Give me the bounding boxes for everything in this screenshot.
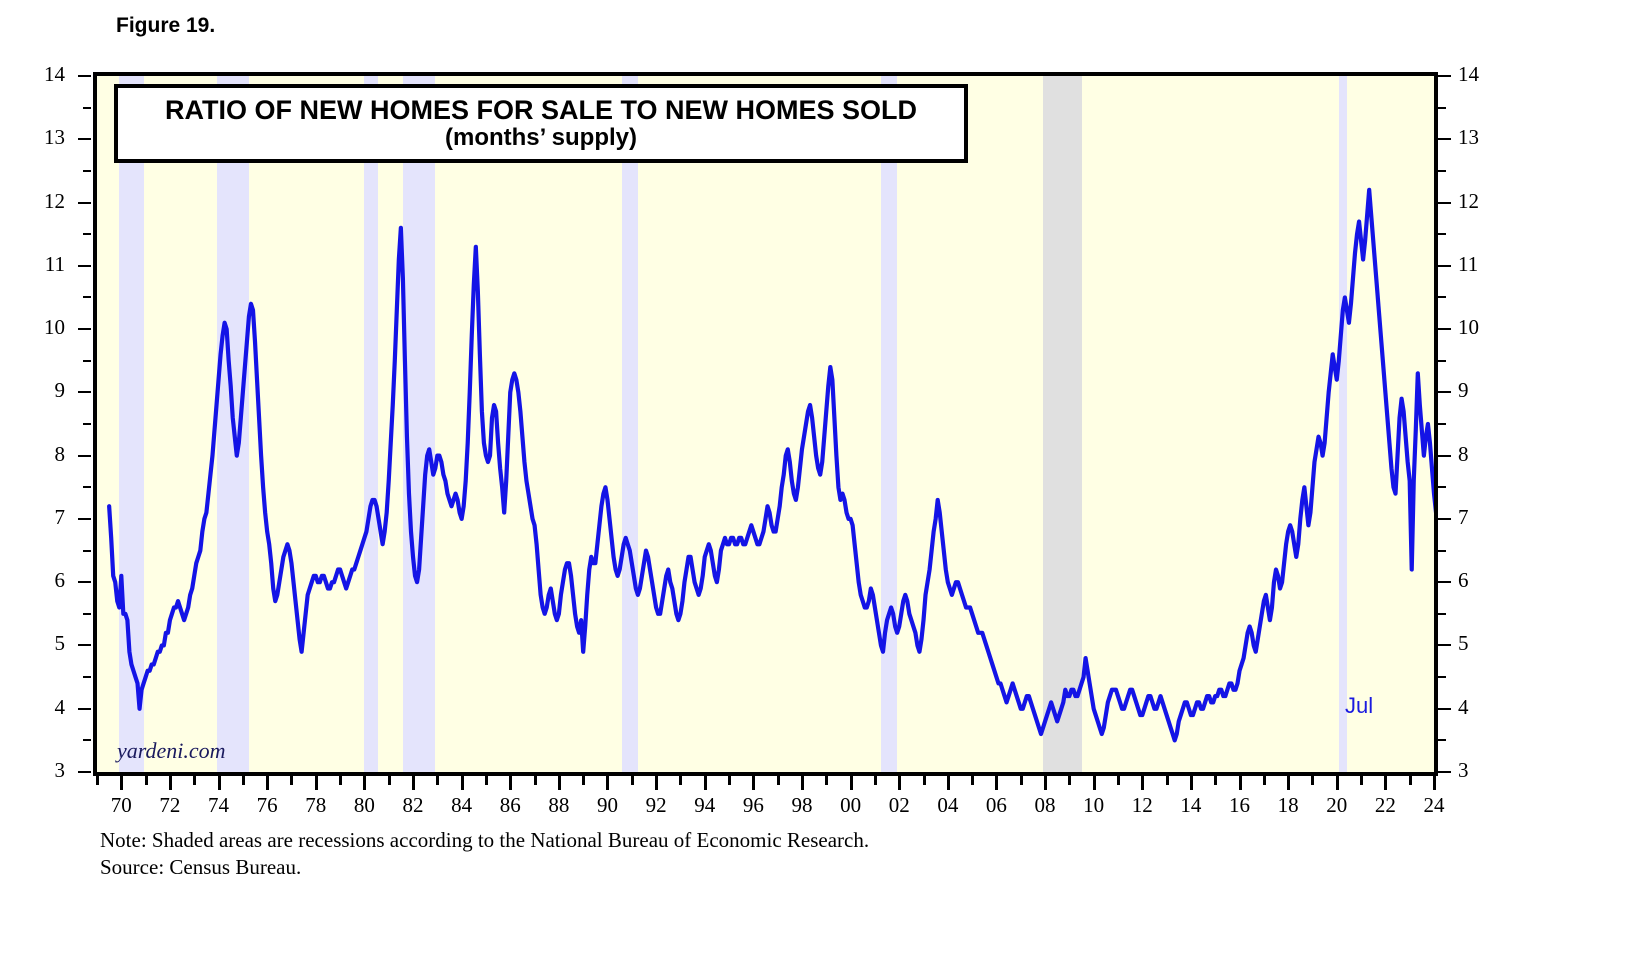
chart-plot-area [93, 72, 1438, 776]
x-axis-label: 72 [150, 793, 190, 818]
x-axis-label: 78 [296, 793, 336, 818]
x-axis-label: 00 [831, 793, 871, 818]
y-tick-minor-right [1438, 550, 1446, 552]
note-recessions: Note: Shaded areas are recessions accord… [100, 827, 869, 854]
x-axis-label: 80 [344, 793, 384, 818]
x-axis-label: 92 [636, 793, 676, 818]
x-tick-minor [388, 776, 391, 785]
x-axis-label: 18 [1268, 793, 1308, 818]
last-point-label: Jul [1345, 693, 1373, 719]
y-tick-major [78, 202, 91, 204]
y-tick-major [78, 518, 91, 520]
y-axis-label-right: 14 [1458, 62, 1498, 87]
y-tick-minor-right [1438, 739, 1446, 741]
x-tick-minor [534, 776, 537, 785]
chart-title: RATIO OF NEW HOMES FOR SALE TO NEW HOMES… [165, 96, 917, 125]
x-axis-label: 10 [1074, 793, 1114, 818]
x-axis-label: 12 [1122, 793, 1162, 818]
y-tick-minor-right [1438, 360, 1446, 362]
y-axis-label-right: 13 [1458, 125, 1498, 150]
y-axis-label-right: 7 [1458, 505, 1498, 530]
y-axis-label: 13 [31, 125, 65, 150]
x-tick-major [1433, 776, 1436, 790]
x-tick-minor [1166, 776, 1169, 785]
x-tick-minor [1117, 776, 1120, 785]
y-tick-minor-right [1438, 423, 1446, 425]
y-axis-label: 12 [31, 189, 65, 214]
y-tick-major-right [1438, 581, 1451, 583]
y-tick-minor [83, 170, 91, 172]
x-tick-minor [971, 776, 974, 785]
x-tick-major [509, 776, 512, 790]
y-tick-major [78, 138, 91, 140]
x-axis-label: 22 [1365, 793, 1405, 818]
watermark-yardeni: yardeni.com [117, 738, 226, 764]
x-axis-label: 76 [247, 793, 287, 818]
y-tick-minor [83, 233, 91, 235]
y-tick-minor [83, 739, 91, 741]
x-tick-major [947, 776, 950, 790]
x-tick-major [412, 776, 415, 790]
y-axis-label: 11 [31, 252, 65, 277]
x-axis-label: 70 [101, 793, 141, 818]
note-source: Source: Census Bureau. [100, 854, 869, 881]
x-tick-minor [436, 776, 439, 785]
x-tick-minor [1360, 776, 1363, 785]
y-tick-major-right [1438, 138, 1451, 140]
chart-subtitle: (months’ supply) [445, 125, 637, 151]
y-tick-major-right [1438, 455, 1451, 457]
x-tick-minor [145, 776, 148, 785]
x-axis-label: 88 [539, 793, 579, 818]
x-tick-major [752, 776, 755, 790]
y-tick-minor-right [1438, 296, 1446, 298]
y-tick-major [78, 708, 91, 710]
x-tick-major [558, 776, 561, 790]
x-tick-minor [923, 776, 926, 785]
x-tick-major [1384, 776, 1387, 790]
y-tick-minor-right [1438, 613, 1446, 615]
x-tick-minor [1263, 776, 1266, 785]
x-tick-major [120, 776, 123, 790]
x-tick-major [655, 776, 658, 790]
y-axis-label-right: 10 [1458, 315, 1498, 340]
y-tick-minor-right [1438, 107, 1446, 109]
chart-notes: Note: Shaded areas are recessions accord… [100, 827, 869, 881]
x-tick-major [1093, 776, 1096, 790]
x-axis-label: 74 [199, 793, 239, 818]
y-axis-label-right: 5 [1458, 631, 1498, 656]
y-tick-major [78, 581, 91, 583]
x-tick-minor [874, 776, 877, 785]
x-tick-major [266, 776, 269, 790]
y-tick-major-right [1438, 771, 1451, 773]
y-tick-major-right [1438, 265, 1451, 267]
y-axis-label-right: 3 [1458, 758, 1498, 783]
chart-plot-inner [97, 76, 1434, 772]
y-axis-label: 14 [31, 62, 65, 87]
x-tick-minor [193, 776, 196, 785]
y-axis-label: 4 [31, 695, 65, 720]
x-tick-major [1190, 776, 1193, 790]
x-tick-major [218, 776, 221, 790]
x-tick-minor [777, 776, 780, 785]
y-tick-minor [83, 423, 91, 425]
x-tick-major [1336, 776, 1339, 790]
y-axis-label: 6 [31, 568, 65, 593]
x-tick-minor [242, 776, 245, 785]
figure-label: Figure 19. [116, 14, 215, 38]
x-tick-minor [1311, 776, 1314, 785]
y-tick-minor-right [1438, 486, 1446, 488]
x-axis-label: 96 [733, 793, 773, 818]
y-tick-minor [83, 360, 91, 362]
y-axis-label: 8 [31, 442, 65, 467]
y-tick-major [78, 455, 91, 457]
x-axis-label: 24 [1414, 793, 1454, 818]
y-axis-label-right: 12 [1458, 189, 1498, 214]
x-tick-major [363, 776, 366, 790]
x-axis-label: 06 [976, 793, 1016, 818]
y-axis-label-right: 8 [1458, 442, 1498, 467]
x-tick-minor [1214, 776, 1217, 785]
x-axis-label: 20 [1317, 793, 1357, 818]
x-axis-label: 86 [490, 793, 530, 818]
x-axis-label: 08 [1025, 793, 1065, 818]
chart-title-box: RATIO OF NEW HOMES FOR SALE TO NEW HOMES… [114, 84, 968, 163]
y-tick-major [78, 644, 91, 646]
x-tick-minor [339, 776, 342, 785]
x-axis-label: 98 [782, 793, 822, 818]
x-tick-minor [1068, 776, 1071, 785]
x-tick-minor [96, 776, 99, 785]
x-tick-minor [582, 776, 585, 785]
x-tick-major [461, 776, 464, 790]
x-tick-major [1141, 776, 1144, 790]
x-tick-minor [825, 776, 828, 785]
x-tick-major [704, 776, 707, 790]
y-tick-minor [83, 296, 91, 298]
x-tick-minor [485, 776, 488, 785]
x-tick-major [995, 776, 998, 790]
y-tick-major [78, 771, 91, 773]
y-tick-minor-right [1438, 233, 1446, 235]
x-axis-label: 14 [1171, 793, 1211, 818]
y-tick-major [78, 265, 91, 267]
x-tick-minor [1020, 776, 1023, 785]
y-tick-major-right [1438, 708, 1451, 710]
y-axis-label: 3 [31, 758, 65, 783]
y-tick-minor-right [1438, 170, 1446, 172]
x-tick-major [801, 776, 804, 790]
x-tick-minor [290, 776, 293, 785]
y-tick-minor [83, 107, 91, 109]
y-tick-minor [83, 550, 91, 552]
y-tick-major [78, 328, 91, 330]
x-tick-minor [1409, 776, 1412, 785]
y-tick-major-right [1438, 328, 1451, 330]
y-tick-major [78, 391, 91, 393]
y-axis-label: 10 [31, 315, 65, 340]
y-tick-minor [83, 613, 91, 615]
x-tick-major [315, 776, 318, 790]
y-tick-major-right [1438, 518, 1451, 520]
x-axis-label: 02 [879, 793, 919, 818]
y-tick-minor [83, 486, 91, 488]
y-tick-major-right [1438, 644, 1451, 646]
y-tick-major-right [1438, 75, 1451, 77]
y-axis-label-right: 6 [1458, 568, 1498, 593]
y-axis-label: 9 [31, 378, 65, 403]
y-tick-minor-right [1438, 676, 1446, 678]
y-axis-label: 7 [31, 505, 65, 530]
x-tick-major [1044, 776, 1047, 790]
y-axis-label-right: 4 [1458, 695, 1498, 720]
y-axis-label: 5 [31, 631, 65, 656]
x-tick-minor [631, 776, 634, 785]
y-tick-major-right [1438, 202, 1451, 204]
x-tick-major [1239, 776, 1242, 790]
data-line-series [97, 76, 1434, 772]
y-tick-major [78, 75, 91, 77]
x-tick-major [1287, 776, 1290, 790]
x-axis-label: 94 [685, 793, 725, 818]
y-tick-major-right [1438, 391, 1451, 393]
x-tick-major [898, 776, 901, 790]
y-axis-label-right: 9 [1458, 378, 1498, 403]
x-axis-label: 90 [587, 793, 627, 818]
x-axis-label: 16 [1220, 793, 1260, 818]
x-tick-minor [679, 776, 682, 785]
y-axis-label-right: 11 [1458, 252, 1498, 277]
x-axis-label: 84 [442, 793, 482, 818]
x-tick-major [606, 776, 609, 790]
x-axis-label: 04 [928, 793, 968, 818]
x-tick-major [850, 776, 853, 790]
x-tick-minor [728, 776, 731, 785]
x-tick-major [169, 776, 172, 790]
x-axis-label: 82 [393, 793, 433, 818]
series-polyline [109, 190, 1434, 740]
y-tick-minor [83, 676, 91, 678]
